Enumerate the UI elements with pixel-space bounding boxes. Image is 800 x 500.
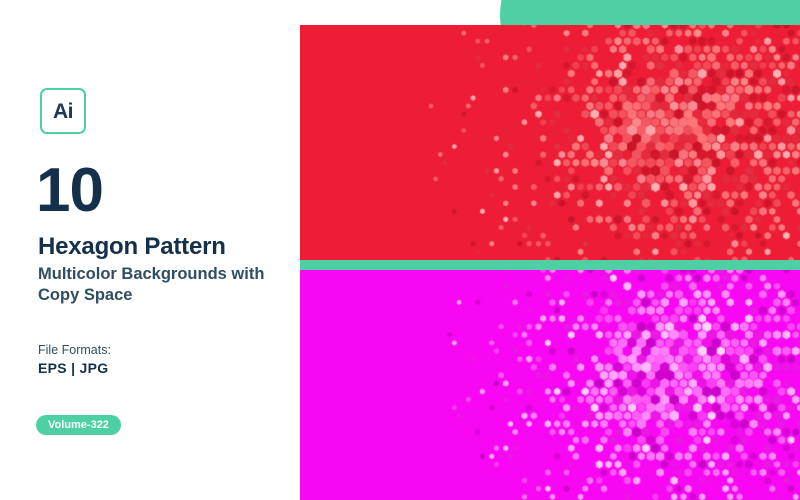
page-subtitle: Multicolor Backgrounds with Copy Space xyxy=(38,264,288,307)
file-formats-label: File Formats: xyxy=(38,343,111,357)
ai-format-icon: Ai xyxy=(40,88,86,134)
volume-badge: Volume-322 xyxy=(36,415,121,435)
ai-format-icon-label: Ai xyxy=(53,101,73,122)
page-title: Hexagon Pattern xyxy=(38,234,226,260)
info-panel: Ai 10 Hexagon Pattern Multicolor Backgro… xyxy=(0,0,300,500)
item-count: 10 xyxy=(36,160,103,222)
product-preview-card: Ai 10 Hexagon Pattern Multicolor Backgro… xyxy=(0,0,800,500)
red-hexagon-preview xyxy=(300,25,800,260)
magenta-hexagon-preview xyxy=(300,270,800,500)
file-formats-value: EPS | JPG xyxy=(38,360,108,376)
